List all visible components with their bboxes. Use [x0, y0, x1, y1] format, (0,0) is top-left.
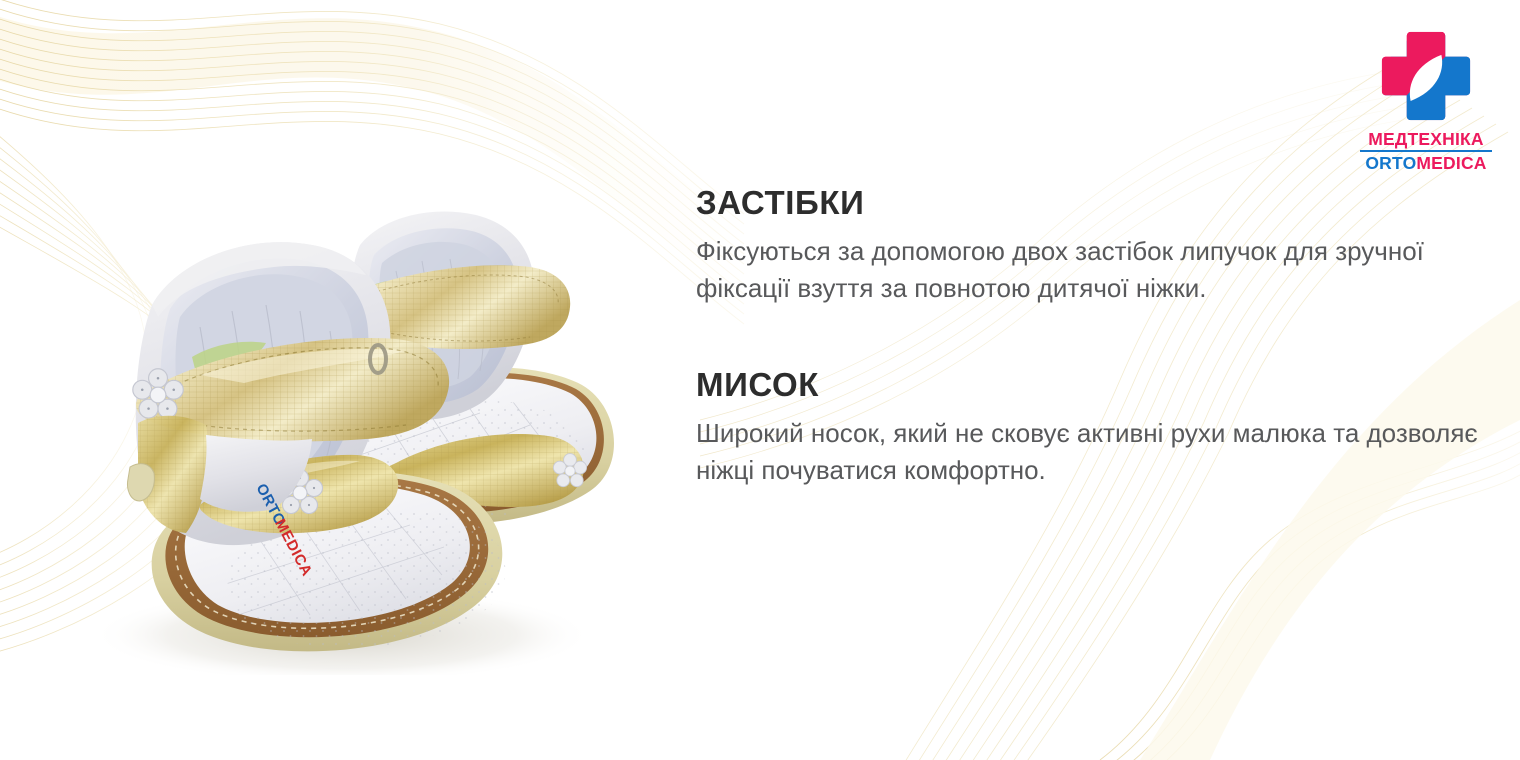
feature-text-column: ЗАСТІБКИ Фіксуються за допомогою двох за… [696, 185, 1486, 489]
brand-logo: МЕДТЕХНІКА ORTOMEDICA [1360, 28, 1492, 173]
logo-divider [1360, 150, 1492, 152]
logo-word-medtehnika: МЕДТЕХНІКА [1360, 130, 1492, 148]
feature-block-toe: МИСОК Широкий носок, який не сковує акти… [696, 367, 1486, 489]
feature-body-toe: Широкий носок, який не сковує активні ру… [696, 415, 1486, 489]
logo-word-orto: ORTO [1365, 153, 1416, 173]
feature-body-fasteners: Фіксуються за допомогою двох застібок ли… [696, 233, 1486, 307]
feature-block-fasteners: ЗАСТІБКИ Фіксуються за допомогою двох за… [696, 185, 1486, 307]
feature-title-toe: МИСОК [696, 367, 1486, 403]
product-image: ORTO MEDICA [60, 95, 660, 675]
logo-word-medica: MEDICA [1416, 153, 1486, 173]
slide-root: ORTO MEDICA [0, 0, 1520, 760]
logo-word-ortomedica: ORTOMEDICA [1360, 154, 1492, 172]
medical-cross-leaf-icon [1378, 28, 1474, 124]
feature-title-fasteners: ЗАСТІБКИ [696, 185, 1486, 221]
